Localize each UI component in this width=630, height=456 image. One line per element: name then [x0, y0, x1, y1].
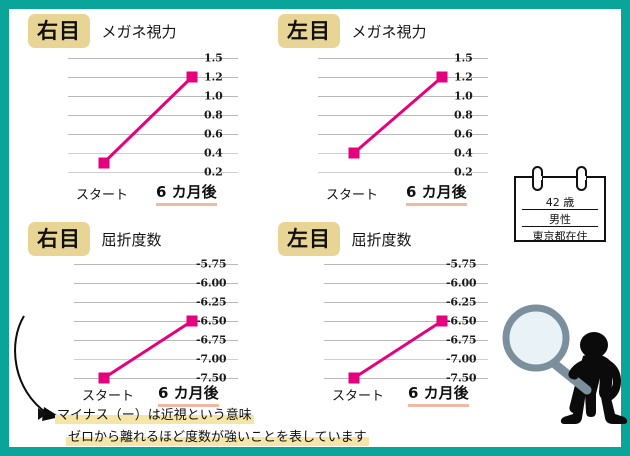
clip-mask [578, 176, 586, 180]
eye-badge: 右目 [28, 222, 90, 256]
eye-badge: 右目 [28, 14, 90, 48]
data-point-start [99, 373, 110, 384]
data-point-start [349, 148, 360, 159]
chart-header: 右目 屈折度数 [28, 222, 161, 256]
data-point-end [437, 316, 448, 327]
x-axis-label-start: スタート [76, 184, 128, 203]
data-point-end [187, 72, 198, 83]
chart-left-eye-glasses-vision: 左目 メガネ視力 1.5 1.2 1.0 0.8 0.6 0.4 0.2 スター… [278, 14, 528, 204]
patient-age: 42 歳 [522, 194, 598, 210]
x-axis-label-start: スタート [326, 184, 378, 203]
chart-subtitle: メガネ視力 [101, 21, 176, 42]
chart-subtitle: メガネ視力 [351, 21, 426, 42]
chart-header: 左目 屈折度数 [278, 222, 411, 256]
chart-left-eye-refraction: 左目 屈折度数 -5.75 -6.00 -6.25 -6.50 -6.75 -7… [278, 222, 528, 402]
infographic-root: 右目 メガネ視力 1.5 1.2 1.0 0.8 0.6 0.4 0.2 スター… [0, 0, 630, 456]
x-axis-label-end: 6 カ月後 [158, 382, 219, 407]
series-line [28, 58, 238, 172]
caption-line-2: ゼロから離れるほど度数が強いことを表しています [66, 431, 369, 446]
x-axis-label-start: スタート [332, 385, 384, 404]
divider [522, 226, 598, 227]
clip-mask [534, 176, 542, 180]
data-point-end [437, 72, 448, 83]
patient-info-card: 42 歳 男性 東京都在住 [514, 176, 606, 242]
eye-badge: 左目 [278, 222, 340, 256]
data-point-start [349, 373, 360, 384]
patient-residence: 東京都在住 [522, 228, 598, 244]
chart-right-eye-refraction: 右目 屈折度数 -5.75 -6.00 -6.25 -6.50 -6.75 -7… [28, 222, 278, 402]
divider [522, 209, 598, 210]
chart-header: 左目 メガネ視力 [278, 14, 426, 48]
eye-badge: 左目 [278, 14, 340, 48]
caption-block: マイナス（ー）は近視という意味 ゼロから離れるほど度数が強いことを表しています [55, 406, 455, 446]
chart-right-eye-glasses-vision: 右目 メガネ視力 1.5 1.2 1.0 0.8 0.6 0.4 0.2 スター… [28, 14, 278, 204]
plot-area: -5.75 -6.00 -6.25 -6.50 -6.75 -7.00 -7.5… [28, 264, 238, 378]
triangle-bullet-icon [38, 408, 47, 420]
plot-area: -5.75 -6.00 -6.25 -6.50 -6.75 -7.00 -7.5… [278, 264, 488, 378]
data-point-end [187, 316, 198, 327]
chart-subtitle: 屈折度数 [101, 229, 161, 250]
series-line [28, 264, 238, 378]
series-line [278, 264, 488, 378]
x-axis-label-start: スタート [82, 385, 134, 404]
caption-line-1: マイナス（ー）は近視という意味 [55, 409, 254, 424]
data-point-start [99, 157, 110, 168]
patient-gender: 男性 [522, 211, 598, 227]
plot-area: 1.5 1.2 1.0 0.8 0.6 0.4 0.2 [278, 58, 488, 172]
x-axis-label-end: 6 カ月後 [156, 181, 217, 206]
chart-header: 右目 メガネ視力 [28, 14, 176, 48]
plot-area: 1.5 1.2 1.0 0.8 0.6 0.4 0.2 [28, 58, 238, 172]
x-axis-label-end: 6 カ月後 [406, 181, 467, 206]
series-line [278, 58, 488, 172]
x-axis-label-end: 6 カ月後 [408, 382, 469, 407]
chart-subtitle: 屈折度数 [351, 229, 411, 250]
